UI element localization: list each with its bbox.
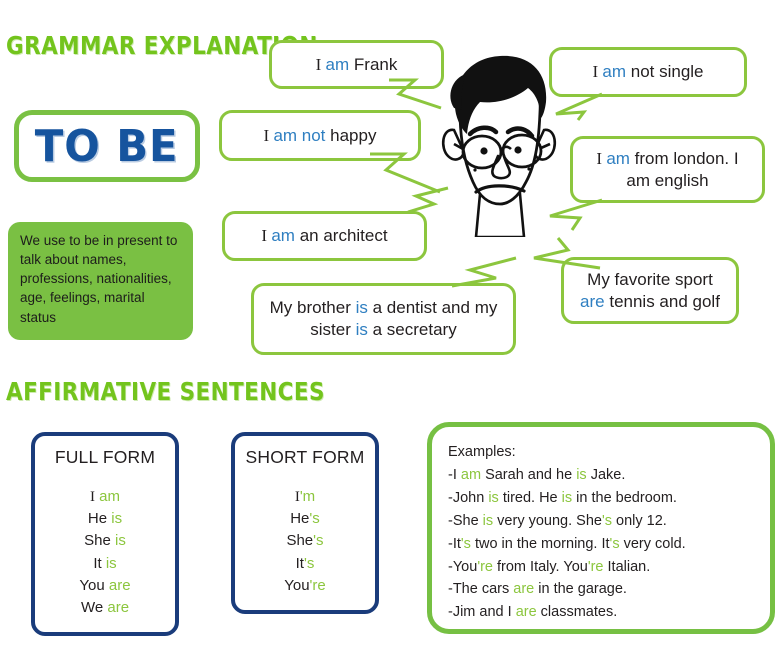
examples-lines: -I am Sarah and he is Jake.-John is tire… bbox=[448, 464, 770, 624]
example-line: -She is very young. She's only 12. bbox=[448, 510, 770, 533]
example-line: -The cars are in the garage. bbox=[448, 578, 770, 601]
example-line: -It's two in the morning. It's very cold… bbox=[448, 533, 770, 556]
example-line: -You're from Italy. You're Italian. bbox=[448, 556, 770, 579]
full-form-box: FULL FORM I amHe isShe isIt isYou areWe … bbox=[31, 432, 179, 636]
cartoon-man-face-illustration bbox=[432, 52, 568, 237]
form-row: He is bbox=[35, 508, 175, 530]
form-row: I'm bbox=[235, 486, 375, 508]
speech-bubble-from-london: I am from london. I am english bbox=[570, 136, 765, 203]
speech-bubble-brother-dentist: My brother is a dentist and my sister is… bbox=[251, 283, 516, 355]
speech-bubble-not-single: I am not single bbox=[549, 47, 747, 97]
form-row: You're bbox=[235, 575, 375, 597]
speech-bubble-tail-favorite-sport bbox=[524, 234, 604, 270]
to-be-title-box: TO BE bbox=[14, 110, 200, 182]
speech-bubble-tail-brother bbox=[424, 256, 520, 288]
form-row: We are bbox=[35, 597, 175, 619]
examples-heading: Examples: bbox=[448, 441, 770, 464]
usage-explanation-panel: We use to be in present to talk about na… bbox=[8, 222, 193, 340]
full-form-title: FULL FORM bbox=[35, 447, 175, 468]
example-line: -Jim and I are classmates. bbox=[448, 601, 770, 624]
form-row: He's bbox=[235, 508, 375, 530]
short-form-title: SHORT FORM bbox=[235, 447, 375, 468]
to-be-title-label: TO BE bbox=[35, 121, 179, 172]
short-form-list: I'mHe'sShe'sIt'sYou're bbox=[235, 486, 375, 597]
form-row: She is bbox=[35, 530, 175, 552]
full-form-list: I amHe isShe isIt isYou areWe are bbox=[35, 486, 175, 619]
short-form-box: SHORT FORM I'mHe'sShe'sIt'sYou're bbox=[231, 432, 379, 614]
section-heading-affirmative-sentences: AFFIRMATIVE SENTENCES bbox=[6, 377, 325, 406]
examples-box: Examples: -I am Sarah and he is Jake.-Jo… bbox=[427, 422, 775, 634]
form-row: It is bbox=[35, 553, 175, 575]
example-line: -I am Sarah and he is Jake. bbox=[448, 464, 770, 487]
form-row: It's bbox=[235, 553, 375, 575]
speech-bubble-architect: I am an architect bbox=[222, 211, 427, 261]
form-row: She's bbox=[235, 530, 375, 552]
form-row: You are bbox=[35, 575, 175, 597]
form-row: I am bbox=[35, 486, 175, 508]
example-line: -John is tired. He is in the bedroom. bbox=[448, 487, 770, 510]
